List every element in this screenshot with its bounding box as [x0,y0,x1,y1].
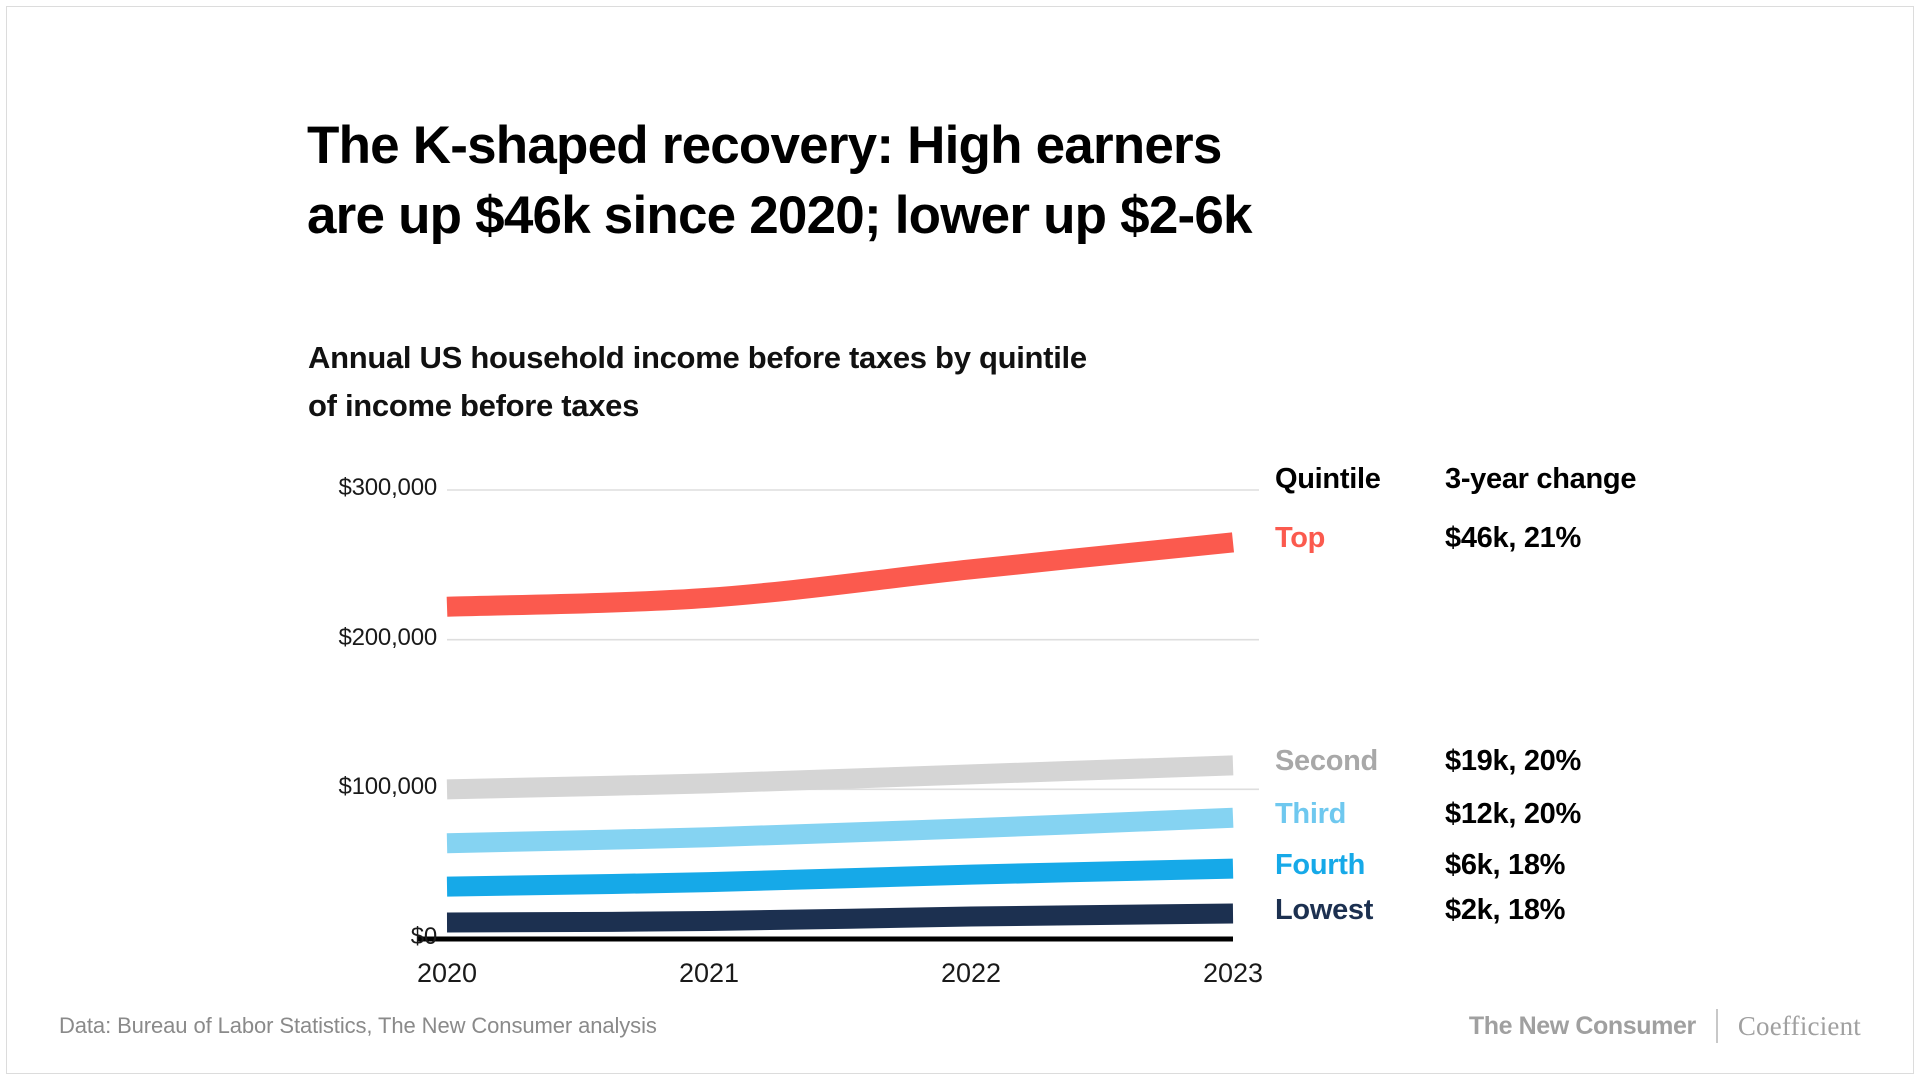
x-axis-tick-label: 2020 [367,958,527,989]
brand-coefficient: Coefficient [1738,1011,1861,1042]
legend-quintile-label: Lowest [1275,894,1373,927]
legend-quintile-label: Fourth [1275,849,1365,882]
series-line-lowest [447,914,1233,923]
legend-change-value: $6k, 18% [1445,849,1565,882]
brand-the-new-consumer: The New Consumer [1469,1012,1696,1041]
x-axis-tick-label: 2022 [891,958,1051,989]
legend-change-value: $12k, 20% [1445,798,1581,831]
legend-row-second: Second$19k, 20% [1275,745,1775,787]
legend-change-value: $19k, 20% [1445,745,1581,778]
legend-quintile-label: Second [1275,745,1378,778]
legend-header-quintile: Quintile [1275,463,1381,496]
series-line-top [447,542,1233,606]
y-axis-tick-label: $300,000 [267,474,437,502]
chart-gridlines [447,490,1259,789]
legend-row-third: Third$12k, 20% [1275,798,1775,840]
legend-header-row: Quintile 3-year change [1275,463,1775,503]
x-axis-tick-label: 2021 [629,958,789,989]
series-line-second [447,765,1233,789]
page-title: The K-shaped recovery: High earners are … [307,111,1647,252]
y-axis-tick-label: $200,000 [267,624,437,652]
legend-change-value: $46k, 21% [1445,522,1581,555]
chart-subtitle: Annual US household income before taxes … [308,334,1538,430]
brand-divider [1716,1009,1718,1043]
legend-change-value: $2k, 18% [1445,894,1565,927]
brand-lockup: The New Consumer Coefficient [1469,1009,1861,1043]
y-axis-tick-label: $0 [267,923,437,951]
y-axis-tick-label: $100,000 [267,773,437,801]
x-axis-tick-label: 2023 [1153,958,1313,989]
legend-row-lowest: Lowest$2k, 18% [1275,894,1775,936]
legend-header-change: 3-year change [1445,463,1636,496]
chart-series-lines [447,542,1233,922]
source-note: Data: Bureau of Labor Statistics, The Ne… [59,1013,657,1039]
chart-card: The K-shaped recovery: High earners are … [6,6,1914,1074]
legend-row-fourth: Fourth$6k, 18% [1275,849,1775,891]
series-line-fourth [447,869,1233,887]
series-line-third [447,818,1233,843]
legend-quintile-label: Top [1275,522,1325,555]
legend-quintile-label: Third [1275,798,1346,831]
legend-row-top: Top$46k, 21% [1275,522,1775,564]
